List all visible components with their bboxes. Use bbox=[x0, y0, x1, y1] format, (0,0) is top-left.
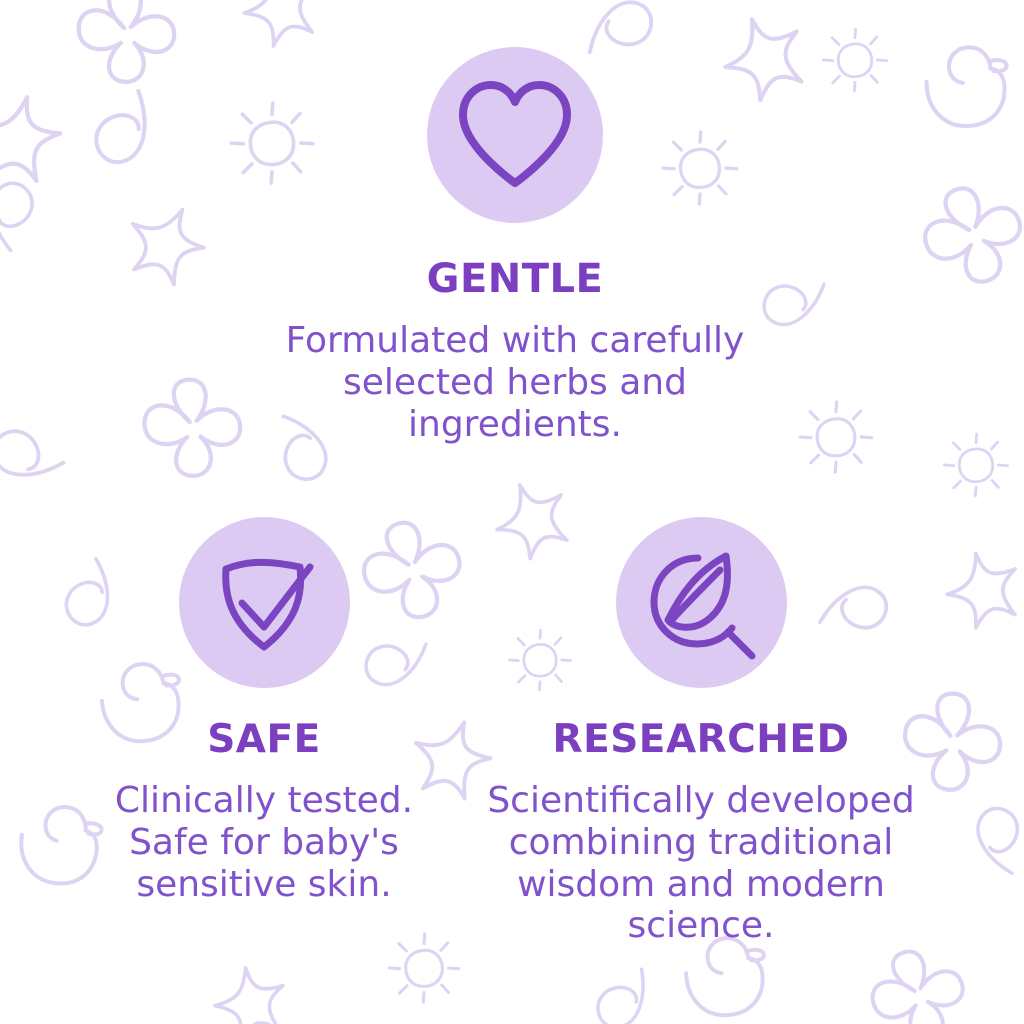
desc-line: Clinically tested. bbox=[68, 780, 460, 822]
feature-safe-description: Clinically tested. Safe for baby's sensi… bbox=[68, 780, 460, 905]
shield-check-icon bbox=[204, 543, 324, 663]
feature-gentle: GENTLE Formulated with carefully selecte… bbox=[262, 47, 768, 445]
feature-researched: RESEARCHED Scientifically developed comb… bbox=[460, 517, 942, 947]
feature-gentle-icon-circle bbox=[427, 47, 603, 223]
desc-line: wisdom and modern science. bbox=[460, 864, 942, 948]
feature-gentle-title: GENTLE bbox=[262, 259, 768, 299]
feature-gentle-description: Formulated with carefully selected herbs… bbox=[262, 320, 768, 445]
infographic-canvas: GENTLE Formulated with carefully selecte… bbox=[0, 0, 1024, 1024]
feature-safe: SAFE Clinically tested. Safe for baby's … bbox=[68, 517, 460, 905]
feature-researched-title: RESEARCHED bbox=[460, 720, 942, 759]
feature-researched-description: Scientifically developed combining tradi… bbox=[460, 780, 942, 947]
feature-safe-icon-circle bbox=[179, 517, 350, 688]
desc-line: Formulated with carefully bbox=[262, 320, 768, 362]
feature-researched-icon-circle bbox=[616, 517, 787, 688]
heart-icon bbox=[455, 79, 575, 191]
feature-safe-title: SAFE bbox=[68, 720, 460, 759]
desc-line: selected herbs and bbox=[262, 362, 768, 404]
desc-line: combining traditional bbox=[460, 822, 942, 864]
desc-line: ingredients. bbox=[262, 404, 768, 446]
desc-line: Scientifically developed bbox=[460, 780, 942, 822]
desc-line: Safe for baby's bbox=[68, 822, 460, 864]
desc-line: sensitive skin. bbox=[68, 864, 460, 906]
leaf-magnifier-icon bbox=[640, 542, 762, 664]
